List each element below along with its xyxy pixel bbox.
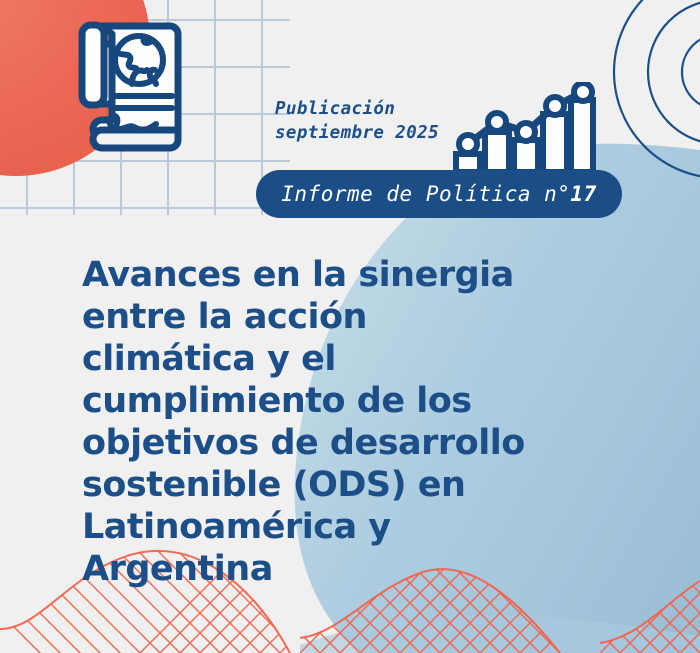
page-title: Avances en la sinergia entre la acción c…	[82, 254, 582, 590]
poster-content: Publicación septiembre 2025 Informe de P…	[0, 0, 700, 653]
publication-date: Publicación septiembre 2025	[275, 97, 439, 145]
report-number-badge[interactable]: Informe de Política n°17	[256, 170, 622, 218]
report-number-badge-label: Informe de Política n°17	[281, 182, 596, 206]
poster-canvas: Publicación septiembre 2025 Informe de P…	[0, 0, 700, 653]
badge-prefix: Informe de Política n°	[281, 182, 570, 206]
growth-bar-chart-icon	[452, 82, 597, 172]
badge-number: 17	[570, 182, 596, 206]
document-globe-icon	[60, 8, 202, 160]
